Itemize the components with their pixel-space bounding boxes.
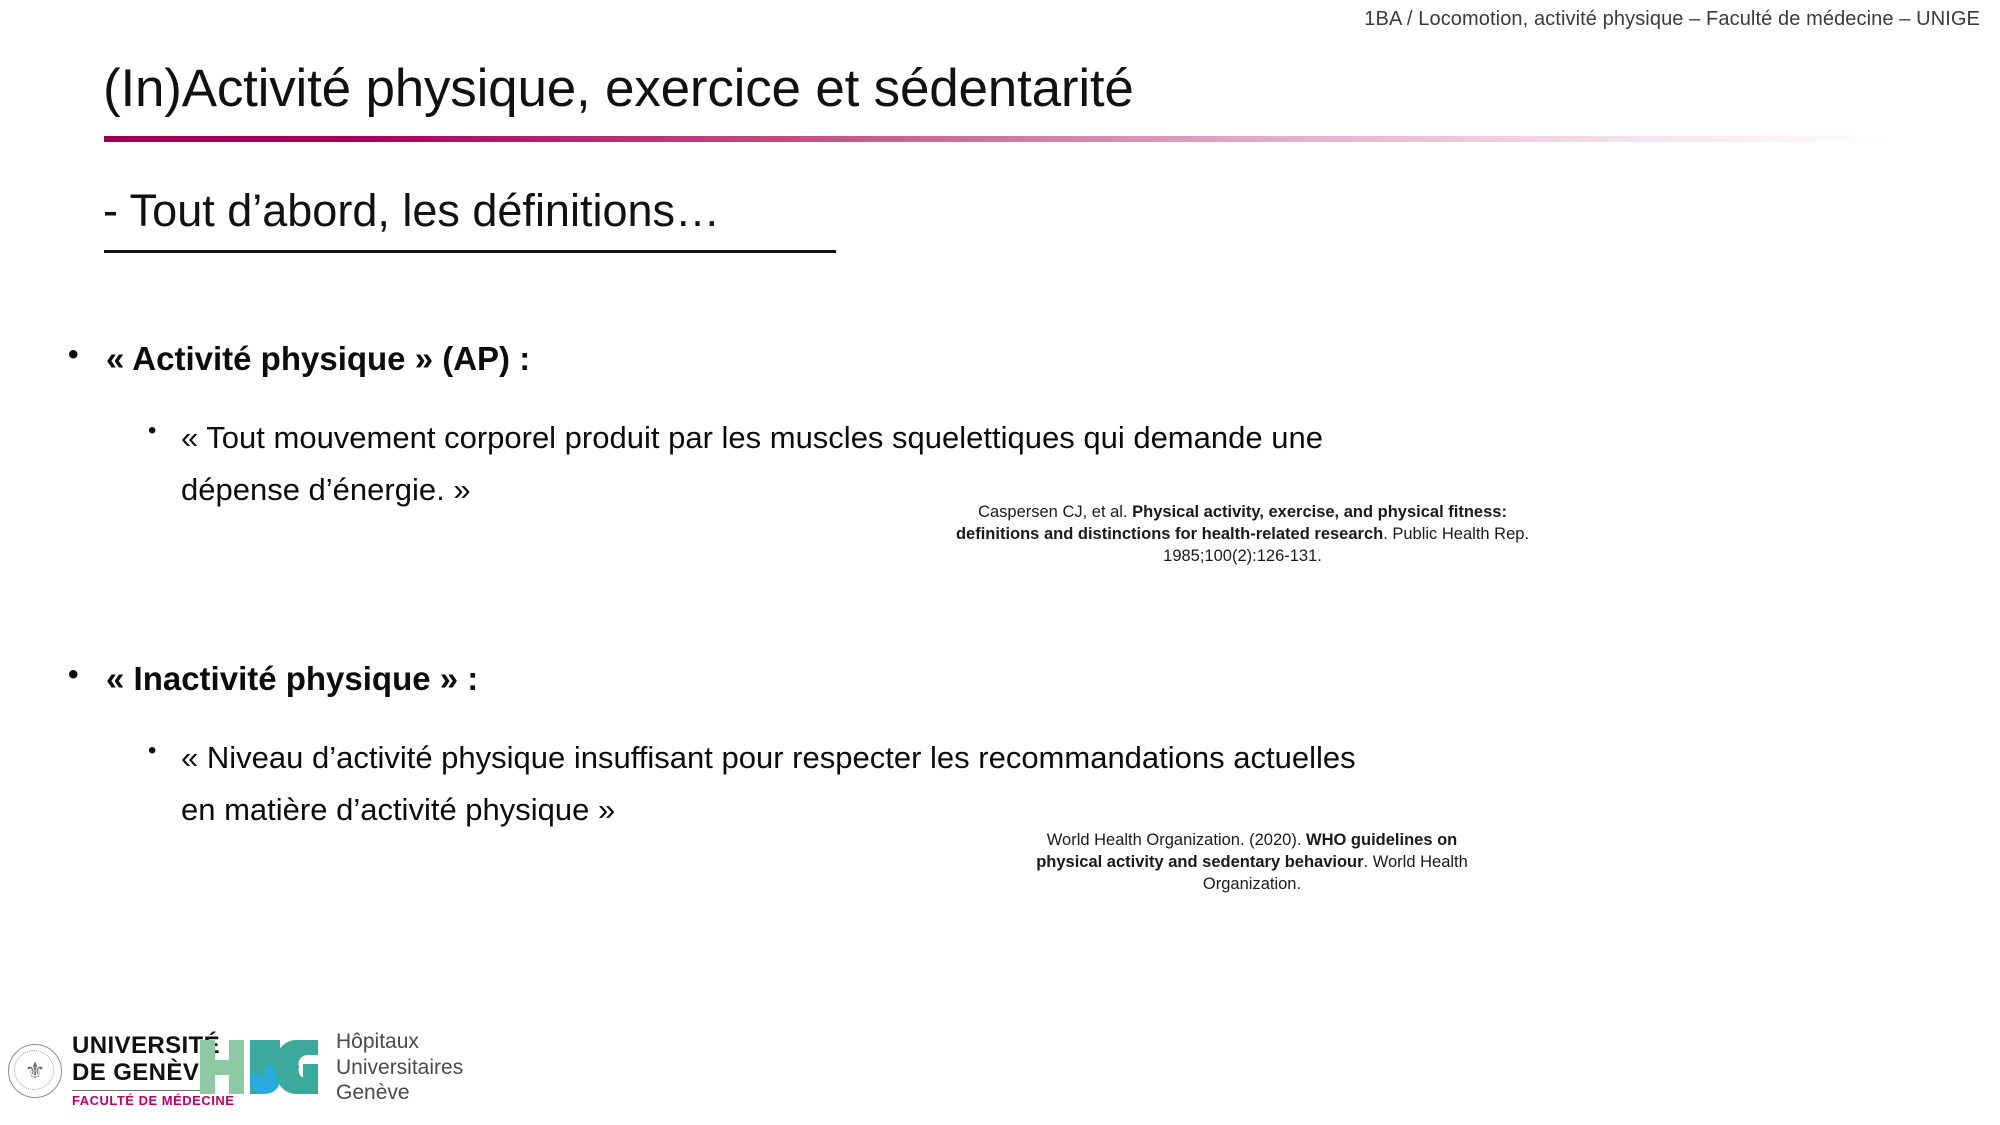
bullet-1-body-line-1: « Tout mouvement corporel produit par le… [181, 420, 1323, 455]
hug-line-2: Universitaires [336, 1055, 463, 1081]
bullet-1-body: • « Tout mouvement corporel produit par … [148, 412, 1546, 516]
unige-eagle-glyph: ⚜ [25, 1059, 46, 1082]
hug-line-3: Genève [336, 1080, 463, 1106]
hug-wordmark: Hôpitaux Universitaires Genève [336, 1029, 463, 1106]
citation-1: Caspersen CJ, et al. Physical activity, … [955, 502, 1530, 567]
title-gradient-rule [104, 136, 1887, 142]
unige-divider [72, 1090, 208, 1092]
citation-2-prefix: World Health Organization. (2020). [1047, 831, 1306, 849]
bullet-2-body: • « Niveau d’activité physique insuffisa… [148, 732, 1546, 836]
bullet-2-body-line-2: en matière d’activité physique » [181, 784, 1546, 836]
bullet-2-heading-text: « Inactivité physique » : [106, 660, 478, 698]
bullet-glyph-level2: • [148, 732, 181, 769]
hug-logo: Hôpitaux Universitaires Genève [200, 1029, 463, 1106]
hug-line-1: Hôpitaux [336, 1029, 463, 1055]
citation-1-prefix: Caspersen CJ, et al. [978, 503, 1132, 521]
bullet-1-body-paragraph: « Tout mouvement corporel produit par le… [181, 412, 1546, 516]
bullet-glyph-level2: • [148, 412, 181, 449]
bullet-glyph-level1: • [68, 340, 106, 370]
slide-canvas: 1BA / Locomotion, activité physique – Fa… [0, 0, 2000, 1125]
bullet-glyph-level1: • [68, 660, 106, 690]
citation-2: World Health Organization. (2020). WHO g… [1032, 830, 1472, 895]
bullet-2-body-paragraph: « Niveau d’activité physique insuffisant… [181, 732, 1546, 836]
bullet-1-heading: • « Activité physique » (AP) : [68, 340, 530, 378]
slide-header-course-line: 1BA / Locomotion, activité physique – Fa… [1364, 8, 1980, 31]
bullet-2-body-line-1: « Niveau d’activité physique insuffisant… [181, 740, 1356, 775]
subtitle-underline [104, 250, 836, 253]
bullet-1-heading-text: « Activité physique » (AP) : [106, 340, 530, 378]
slide-subtitle: - Tout d’abord, les définitions… [103, 185, 720, 237]
slide-title: (In)Activité physique, exercice et séden… [103, 58, 1134, 119]
unige-seal-icon: ⚜ [8, 1044, 62, 1098]
hug-mark-icon [200, 1036, 320, 1098]
slide-footer: ⚜ UNIVERSITÉ DE GENÈVE FACULTÉ DE MÉDECI… [0, 1005, 2000, 1125]
bullet-2-heading: • « Inactivité physique » : [68, 660, 478, 698]
